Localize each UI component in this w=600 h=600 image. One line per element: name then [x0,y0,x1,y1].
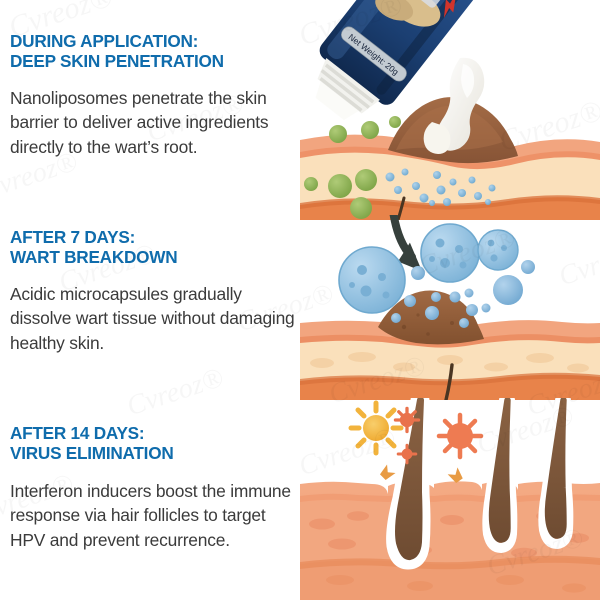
section-during-application: DURING APPLICATION: DEEP SKIN PENETRATIO… [10,32,298,159]
infographic-root: DURING APPLICATION: DEEP SKIN PENETRATIO… [0,0,600,600]
panel-after-14-days-illustration [300,398,600,600]
section-after-14-days: AFTER 14 DAYS: VIRUS ELIMINATION Interfe… [10,424,298,552]
section-2-heading-line1: AFTER 7 DAYS: [10,228,298,248]
section-3-heading-line1: AFTER 14 DAYS: [10,424,298,444]
section-1-heading-line1: DURING APPLICATION: [10,32,298,52]
panel-during-application-illustration: Net Weight: 20g [300,0,600,220]
section-1-body: Nanoliposomes penetrate the skin barrier… [10,86,298,159]
section-3-heading-line2: VIRUS ELIMINATION [10,444,298,464]
section-2-heading-line2: WART BREAKDOWN [10,248,298,268]
section-after-7-days: AFTER 7 DAYS: WART BREAKDOWN Acidic micr… [10,228,298,355]
section-3-heading: AFTER 14 DAYS: VIRUS ELIMINATION [10,424,298,463]
section-1-heading: DURING APPLICATION: DEEP SKIN PENETRATIO… [10,32,298,71]
interferon-sun-burst [351,403,401,453]
section-2-heading: AFTER 7 DAYS: WART BREAKDOWN [10,228,298,267]
text-column: DURING APPLICATION: DEEP SKIN PENETRATIO… [0,0,300,600]
section-2-body: Acidic microcapsules gradually dissolve … [10,282,298,355]
illustration-column: Net Weight: 20g [300,0,600,600]
section-3-body: Interferon inducers boost the immune res… [10,479,298,552]
section-1-heading-line2: DEEP SKIN PENETRATION [10,52,298,72]
panel-after-7-days-illustration [300,215,600,400]
